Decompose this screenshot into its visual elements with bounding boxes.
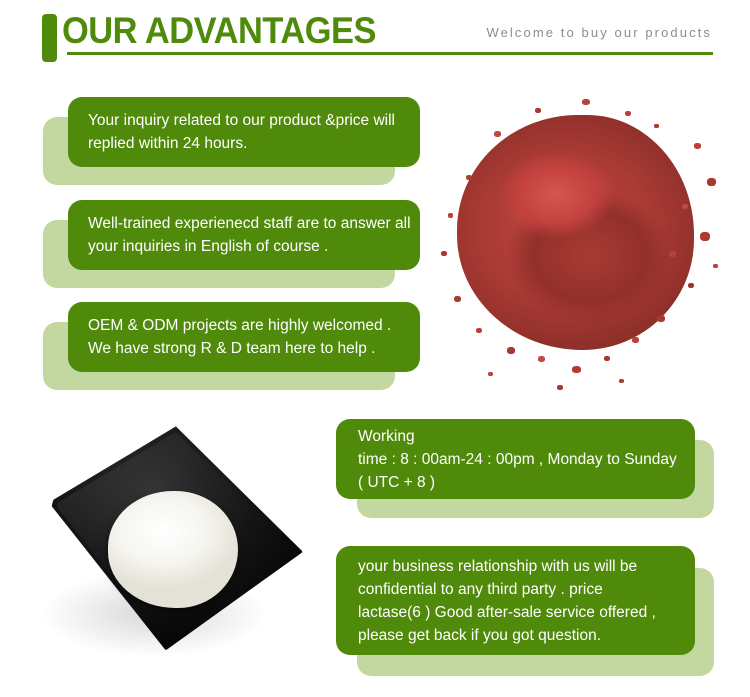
powder-speck: [454, 296, 461, 302]
callout-line: ( UTC + 8 ): [358, 471, 681, 494]
powder-speck: [494, 131, 501, 137]
powder-speck: [604, 356, 610, 361]
page-title: OUR ADVANTAGES: [62, 9, 376, 53]
powder-speck: [688, 283, 694, 288]
callout-line: Well-trained experienecd staff are to an…: [88, 212, 406, 235]
callout-line: replied within 24 hours.: [88, 132, 406, 155]
callout-confidentiality: your business relationship with us will …: [336, 546, 695, 655]
powder-speck: [466, 175, 472, 180]
powder-speck: [507, 347, 515, 354]
advantages-page: OUR ADVANTAGES Welcome to buy our produc…: [0, 0, 750, 697]
callout-line: time : 8 : 00am-24 : 00pm , Monday to Su…: [358, 448, 681, 471]
powder-speck: [632, 337, 639, 343]
powder-speck: [488, 372, 493, 376]
callout-line: Your inquiry related to our product &pri…: [88, 109, 406, 132]
callout-line: Working: [358, 425, 681, 448]
powder-speck: [582, 99, 590, 105]
red-powder-pile: [432, 86, 744, 404]
powder-speck: [538, 356, 545, 362]
callout-trained-staff: Well-trained experienecd staff are to an…: [68, 200, 420, 270]
callout-line: OEM & ODM projects are highly welcomed .: [88, 314, 406, 337]
callout-line: lactase(6 ) Good after-sale service offe…: [358, 601, 681, 624]
powder-speck: [657, 315, 665, 322]
powder-speck: [448, 213, 453, 218]
powder-speck: [441, 251, 447, 256]
callout-line: your business relationship with us will …: [358, 555, 681, 578]
powder-speck: [707, 178, 716, 186]
red-powder-photo: [432, 86, 744, 404]
callout-inquiry-response: Your inquiry related to our product &pri…: [68, 97, 420, 167]
white-powder-bowl-photo: [24, 404, 334, 684]
white-powder-mound: [108, 491, 238, 609]
powder-speck: [694, 143, 701, 149]
callout-line: We have strong R & D team here to help .: [88, 337, 406, 360]
powder-speck: [713, 264, 718, 268]
header-divider: [67, 52, 713, 55]
callout-line: your inquiries in English of course .: [88, 235, 406, 258]
powder-speck: [619, 379, 624, 383]
header-subtitle: Welcome to buy our products: [486, 25, 712, 40]
powder-speck: [476, 328, 482, 333]
callout-line: please get back if you got question.: [358, 624, 681, 647]
callout-oem-odm: OEM & ODM projects are highly welcomed .…: [68, 302, 420, 372]
powder-speck: [700, 232, 710, 241]
powder-speck: [535, 108, 541, 113]
powder-speck: [572, 366, 581, 373]
callout-line: confidential to any third party . price: [358, 578, 681, 601]
powder-speck: [654, 124, 659, 128]
powder-speck: [625, 111, 631, 116]
powder-speck: [557, 385, 563, 390]
header-accent-bar: [42, 14, 57, 62]
powder-speck: [682, 204, 688, 209]
callout-working-time: Working time : 8 : 00am-24 : 00pm , Mond…: [336, 419, 695, 499]
